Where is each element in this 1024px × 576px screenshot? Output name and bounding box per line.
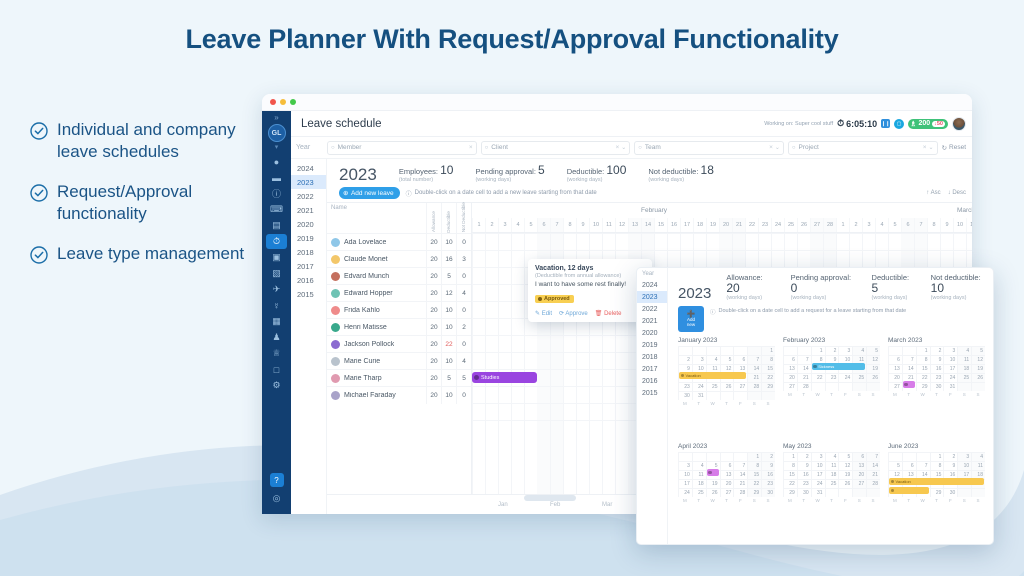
filter-project[interactable]: ○Project×⌄ bbox=[788, 141, 938, 155]
leave-type-dot-icon bbox=[891, 489, 895, 493]
table-row[interactable]: Michael Faraday20100 bbox=[327, 386, 471, 403]
calendar-day-cell[interactable]: 3 bbox=[943, 346, 957, 355]
overlay-year-item-2015[interactable]: 2015 bbox=[637, 387, 667, 399]
calendar-day-cell[interactable]: 4 bbox=[971, 452, 985, 461]
calendar-day-cell[interactable]: 25 bbox=[957, 373, 971, 382]
calendar-day-cell[interactable]: 25 bbox=[692, 488, 706, 497]
timeline-day-cell[interactable]: 6 bbox=[537, 218, 550, 232]
calendar-day-cell[interactable]: 11 bbox=[971, 461, 985, 470]
reset-button[interactable]: ↻ Reset bbox=[942, 144, 966, 152]
calendar-day-cell[interactable]: 27 bbox=[888, 382, 902, 391]
calendar-day-cell[interactable]: 22 bbox=[811, 373, 825, 382]
calendar-day-cell[interactable]: 29 bbox=[783, 488, 797, 497]
calendar-day-cell[interactable]: 27 bbox=[783, 382, 797, 391]
timeline-day-cell[interactable]: 27 bbox=[810, 218, 823, 232]
calendar-day-cell[interactable]: 27 bbox=[733, 382, 747, 391]
sort-asc-label: Asc bbox=[931, 190, 941, 196]
calendar-day-cell[interactable]: 17 bbox=[811, 470, 825, 479]
chevron-down-icon[interactable]: ⌄ bbox=[621, 144, 626, 151]
filter-member[interactable]: ○Member× bbox=[327, 141, 477, 155]
calendar-day-cell[interactable]: 31 bbox=[692, 391, 706, 400]
calendar-day-cell[interactable]: 2 bbox=[825, 346, 839, 355]
timeline-day-cell[interactable]: 23 bbox=[758, 218, 771, 232]
calendar-leave-bar[interactable] bbox=[889, 487, 929, 494]
overlay-year-item-2019[interactable]: 2019 bbox=[637, 339, 667, 351]
timeline-day-cell[interactable]: 9 bbox=[576, 218, 589, 232]
timeline-day-cell[interactable]: 1 bbox=[836, 218, 849, 232]
table-row[interactable]: Claude Monet20163 bbox=[327, 250, 471, 267]
calendar-day-cell[interactable]: 17 bbox=[678, 479, 692, 488]
screen-title: Leave schedule bbox=[301, 118, 382, 130]
team-icon[interactable]: ♟ bbox=[266, 330, 287, 345]
overlay-year-item-2021[interactable]: 2021 bbox=[637, 315, 667, 327]
calendar-day-cell[interactable]: 11 bbox=[825, 461, 839, 470]
calendar-day-cell[interactable]: 30 bbox=[761, 488, 775, 497]
calendar-day-cell[interactable]: 23 bbox=[678, 382, 692, 391]
overlay-year-item-2024[interactable]: 2024 bbox=[637, 279, 667, 291]
timeline-day-cell[interactable]: 10 bbox=[589, 218, 602, 232]
calendar-day-cell[interactable]: 21 bbox=[866, 470, 880, 479]
calendar-day-cell[interactable]: 5 bbox=[866, 346, 880, 355]
calendar-day-cell[interactable]: 19 bbox=[971, 364, 985, 373]
timeline-day-cell[interactable]: 4 bbox=[875, 218, 888, 232]
calendar-day-cell[interactable]: 7 bbox=[916, 461, 930, 470]
calendar-day-cell[interactable]: 7 bbox=[747, 355, 761, 364]
overlay-year-item-2022[interactable]: 2022 bbox=[637, 303, 667, 315]
add-new-leave-button[interactable]: ⊕ Add new leave bbox=[339, 187, 400, 199]
avatar[interactable] bbox=[952, 117, 966, 131]
calendar-day-cell[interactable]: 11 bbox=[692, 470, 706, 479]
sort-desc-button[interactable]: ↓ Desc bbox=[948, 190, 966, 196]
document-icon[interactable]: ▤ bbox=[266, 218, 287, 233]
mini-calendar-grid: .....12345678910111213141516171819202122… bbox=[678, 452, 775, 504]
calendar-day-cell[interactable]: 1 bbox=[747, 452, 761, 461]
briefcase-icon[interactable]: ▣ bbox=[266, 250, 287, 265]
calendar-day-cell[interactable]: 25 bbox=[852, 373, 866, 382]
overlay-year-item-2017[interactable]: 2017 bbox=[637, 363, 667, 375]
monitor-icon[interactable]: ▢ bbox=[894, 119, 904, 129]
calendar-day-cell[interactable]: 13 bbox=[783, 364, 797, 373]
minimize-dot[interactable] bbox=[280, 99, 286, 105]
calendar-day-cell[interactable]: 6 bbox=[852, 452, 866, 461]
mini-calendar-grid: 1234567891011121314151617181920212223242… bbox=[783, 452, 880, 504]
calendar-day-cell[interactable]: 8 bbox=[916, 355, 930, 364]
maximize-dot[interactable] bbox=[290, 99, 296, 105]
gear-icon[interactable]: ⚙ bbox=[266, 378, 287, 393]
calendar-dow-label: S bbox=[971, 391, 985, 398]
add-new-leave-label: Add new leave bbox=[351, 190, 394, 197]
calendar-day-cell[interactable]: 12 bbox=[838, 461, 852, 470]
year-item-2015[interactable]: 2015 bbox=[291, 287, 326, 301]
calendar-day-cell[interactable]: 17 bbox=[943, 364, 957, 373]
info-icon: ⓘ bbox=[406, 189, 412, 198]
app-header: Leave schedule Working on: Super cool st… bbox=[291, 111, 972, 137]
filter-client[interactable]: ○Client×⌄ bbox=[481, 141, 631, 155]
scrollbar-thumb[interactable] bbox=[524, 495, 576, 501]
cell-allowance: 20 bbox=[426, 353, 441, 370]
calendar-day-cell[interactable]: 30 bbox=[797, 488, 811, 497]
calendar-day-cell[interactable]: 23 bbox=[930, 373, 944, 382]
year-item-2021[interactable]: 2021 bbox=[291, 203, 326, 217]
add-new-button[interactable]: ➕ Add new bbox=[678, 306, 704, 332]
calendar-icon[interactable]: □ bbox=[266, 362, 287, 377]
calendar-day-cell[interactable]: 20 bbox=[852, 470, 866, 479]
calendar-empty-cell: . bbox=[733, 391, 747, 400]
trophy-icon[interactable]: ♕ bbox=[266, 346, 287, 361]
timeline-day-cell[interactable]: 21 bbox=[732, 218, 745, 232]
calendar-day-cell[interactable]: 2 bbox=[943, 452, 957, 461]
calendar-day-cell[interactable]: 5 bbox=[971, 346, 985, 355]
table-row[interactable]: Marie Tharp2055 bbox=[327, 369, 471, 386]
invoice-icon[interactable]: ▧ bbox=[266, 266, 287, 281]
year-item-2018[interactable]: 2018 bbox=[291, 245, 326, 259]
filter-placeholder: Client bbox=[491, 144, 508, 151]
calendar-day-cell[interactable]: 26 bbox=[838, 479, 852, 488]
calendar-day-cell[interactable]: 18 bbox=[825, 470, 839, 479]
person-icon[interactable]: ☿ bbox=[266, 298, 287, 313]
timeline-day-cell[interactable]: 8 bbox=[927, 218, 940, 232]
calendar-leave-bar[interactable]: Vacation bbox=[889, 478, 984, 485]
timeline-day-cell[interactable]: 2 bbox=[849, 218, 862, 232]
calendar-day-cell[interactable]: 29 bbox=[930, 488, 944, 497]
table-row[interactable]: Edvard Munch2050 bbox=[327, 267, 471, 284]
calendar-day-cell[interactable]: 18 bbox=[692, 479, 706, 488]
calendar-day-cell[interactable]: 1 bbox=[811, 346, 825, 355]
calendar-day-cell[interactable]: 15 bbox=[747, 470, 761, 479]
timeline-day-cell[interactable]: 3 bbox=[498, 218, 511, 232]
calendar-day-cell[interactable]: 20 bbox=[888, 373, 902, 382]
calendar-day-cell[interactable]: 6 bbox=[888, 355, 902, 364]
calendar-day-cell[interactable]: 19 bbox=[866, 364, 880, 373]
timeline-day-cell[interactable]: 3 bbox=[862, 218, 875, 232]
calendar-day-cell[interactable]: 9 bbox=[943, 461, 957, 470]
timeline-day-cell[interactable]: 26 bbox=[797, 218, 810, 232]
calendar-day-cell[interactable]: 3 bbox=[692, 355, 706, 364]
calendar-day-cell[interactable]: 23 bbox=[761, 479, 775, 488]
calendar-day-cell[interactable]: 2 bbox=[761, 452, 775, 461]
calendar-day-cell[interactable]: 10 bbox=[957, 461, 971, 470]
timeline-day-cell[interactable]: 17 bbox=[680, 218, 693, 232]
calendar-day-cell[interactable]: 11 bbox=[957, 355, 971, 364]
year-item-2024[interactable]: 2024 bbox=[291, 161, 326, 175]
calendar-day-cell[interactable]: 9 bbox=[930, 355, 944, 364]
timeline-day-cell[interactable]: 13 bbox=[628, 218, 641, 232]
calendar-day-cell[interactable]: 12 bbox=[971, 355, 985, 364]
calendar-day-cell[interactable]: 29 bbox=[747, 488, 761, 497]
calendar-day-cell[interactable]: 26 bbox=[706, 488, 720, 497]
calendar-day-cell[interactable]: 5 bbox=[888, 461, 902, 470]
calendar-day-cell[interactable]: 13 bbox=[720, 470, 734, 479]
id-card-icon[interactable]: ▦ bbox=[266, 314, 287, 329]
calendar-day-cell[interactable]: 14 bbox=[902, 364, 916, 373]
calendar-day-cell[interactable]: 10 bbox=[943, 355, 957, 364]
timeline-day-cell[interactable]: 15 bbox=[654, 218, 667, 232]
calendar-day-cell[interactable]: 13 bbox=[888, 364, 902, 373]
scroll-month-label: Feb bbox=[550, 502, 560, 508]
calendar-day-cell[interactable]: 4 bbox=[692, 461, 706, 470]
calendar-day-cell[interactable]: 26 bbox=[720, 382, 734, 391]
clear-icon[interactable]: × bbox=[765, 144, 773, 151]
timeline-day-cell[interactable]: 5 bbox=[888, 218, 901, 232]
calendar-day-cell[interactable]: 6 bbox=[902, 461, 916, 470]
calendar-day-cell[interactable]: 8 bbox=[761, 355, 775, 364]
calendar-day-cell[interactable]: 31 bbox=[811, 488, 825, 497]
calendar-day-cell[interactable]: 10 bbox=[811, 461, 825, 470]
timeline-day-cell[interactable]: 28 bbox=[823, 218, 836, 232]
calendar-day-cell[interactable]: 22 bbox=[916, 373, 930, 382]
chevron-down-icon[interactable]: ⌄ bbox=[775, 144, 780, 151]
calendar-day-cell[interactable]: 1 bbox=[916, 346, 930, 355]
edit-button[interactable]: ✎ Edit bbox=[535, 310, 552, 317]
calendar-day-cell[interactable]: 22 bbox=[761, 373, 775, 382]
timeline-day-cell[interactable]: 5 bbox=[524, 218, 537, 232]
help-icon[interactable]: ? bbox=[270, 473, 284, 487]
year-item-2022[interactable]: 2022 bbox=[291, 189, 326, 203]
calendar-day-cell[interactable]: 15 bbox=[916, 364, 930, 373]
calendar-day-cell[interactable]: 20 bbox=[783, 373, 797, 382]
calendar-day-cell[interactable]: 7 bbox=[902, 355, 916, 364]
calendar-day-cell[interactable]: 24 bbox=[838, 373, 852, 382]
bookmark-icon[interactable]: ▬ bbox=[266, 170, 287, 185]
timer-display[interactable]: ⏱ 6:05:10 bbox=[837, 118, 877, 129]
calendar-dow-label: F bbox=[943, 391, 957, 398]
stat-sub: (working days) bbox=[931, 295, 993, 301]
table-row[interactable]: Edward Hopper20124 bbox=[327, 284, 471, 301]
calendar-day-cell[interactable]: 22 bbox=[783, 479, 797, 488]
calendar-day-cell[interactable]: 29 bbox=[916, 382, 930, 391]
calendar-empty-cell: . bbox=[825, 382, 839, 391]
calendar-day-cell[interactable]: 2 bbox=[930, 346, 944, 355]
timeline-day-cell[interactable]: 7 bbox=[550, 218, 563, 232]
calendar-dow-label: S bbox=[957, 497, 971, 504]
timeline-day-cell[interactable]: 1 bbox=[472, 218, 485, 232]
calendar-leave-bar[interactable] bbox=[903, 381, 915, 388]
sort-asc-button[interactable]: ↑ Asc bbox=[926, 190, 940, 196]
timeline-day-cell[interactable]: 22 bbox=[745, 218, 758, 232]
clear-icon[interactable]: × bbox=[611, 144, 619, 151]
calendar-day-cell[interactable]: 3 bbox=[678, 461, 692, 470]
calendar-day-cell[interactable]: 1 bbox=[930, 452, 944, 461]
calendar-dow-label: S bbox=[761, 400, 775, 407]
calendar-day-cell[interactable]: 16 bbox=[761, 470, 775, 479]
overlay-year-item-2023[interactable]: 2023 bbox=[637, 291, 667, 303]
clear-icon[interactable]: × bbox=[465, 144, 473, 151]
calendar-day-cell[interactable]: 4 bbox=[825, 452, 839, 461]
timeline-day-cell[interactable]: 11 bbox=[966, 218, 972, 232]
timer-cup-icon[interactable]: ⏱ bbox=[266, 234, 287, 249]
calendar-day-cell[interactable]: 14 bbox=[733, 470, 747, 479]
status-badge[interactable]: ♗ 200 ↓50 bbox=[908, 119, 948, 129]
calendar-day-cell[interactable]: 18 bbox=[957, 364, 971, 373]
approve-button[interactable]: ⟳ Approve bbox=[559, 310, 588, 317]
clear-icon[interactable]: × bbox=[919, 144, 927, 151]
calendar-day-cell[interactable]: 28 bbox=[733, 488, 747, 497]
grid-line bbox=[524, 233, 525, 494]
user-circle-icon[interactable]: ● bbox=[266, 154, 287, 169]
timeline-day-cell[interactable]: 25 bbox=[784, 218, 797, 232]
timeline-day-cell[interactable]: 24 bbox=[771, 218, 784, 232]
calendar-day-cell[interactable]: 27 bbox=[852, 479, 866, 488]
calendar-day-cell[interactable]: 26 bbox=[866, 373, 880, 382]
calendar-day-cell[interactable]: 2 bbox=[678, 355, 692, 364]
calendar-day-cell[interactable]: 28 bbox=[747, 382, 761, 391]
year-item-2017[interactable]: 2017 bbox=[291, 259, 326, 273]
calendar-day-cell[interactable]: 30 bbox=[943, 488, 957, 497]
gantt-bar[interactable]: Studies bbox=[472, 372, 537, 383]
timeline-day-cell[interactable]: 11 bbox=[602, 218, 615, 232]
overlay-year-item-2020[interactable]: 2020 bbox=[637, 327, 667, 339]
calendar-day-cell[interactable]: 22 bbox=[747, 479, 761, 488]
calendar-day-cell[interactable]: 19 bbox=[706, 479, 720, 488]
status-badge: Approved bbox=[535, 295, 574, 303]
info-circle-icon[interactable]: ⓘ bbox=[266, 186, 287, 201]
calendar-day-cell[interactable]: 5 bbox=[720, 355, 734, 364]
calendar-day-cell[interactable]: 24 bbox=[678, 488, 692, 497]
popup-subtitle: (Deductible from annual allowance) bbox=[535, 273, 645, 279]
timeline-day-cell[interactable]: 10 bbox=[953, 218, 966, 232]
year-column-header: Year bbox=[637, 271, 667, 277]
overlay-year-item-2018[interactable]: 2018 bbox=[637, 351, 667, 363]
calendar-day-cell[interactable]: 5 bbox=[838, 452, 852, 461]
calendar-day-cell[interactable]: 9 bbox=[761, 461, 775, 470]
calendar-day-cell[interactable]: 23 bbox=[797, 479, 811, 488]
timeline-day-cell[interactable]: 20 bbox=[719, 218, 732, 232]
calendar-day-cell[interactable]: 10 bbox=[678, 470, 692, 479]
timeline-day-cell[interactable]: 4 bbox=[511, 218, 524, 232]
timeline-day-cell[interactable]: 9 bbox=[940, 218, 953, 232]
year-item-2020[interactable]: 2020 bbox=[291, 217, 326, 231]
avatar bbox=[331, 306, 340, 315]
calendar-day-cell[interactable]: 19 bbox=[838, 470, 852, 479]
calendar-day-cell[interactable]: 15 bbox=[761, 364, 775, 373]
table-row[interactable]: Marie Curie20104 bbox=[327, 352, 471, 369]
leave-type-dot-icon bbox=[891, 480, 895, 484]
calendar-day-cell[interactable]: 14 bbox=[797, 364, 811, 373]
table-row[interactable]: Jackson Pollock20220 bbox=[327, 335, 471, 352]
calendar-day-cell[interactable]: 3 bbox=[957, 452, 971, 461]
calendar-day-cell[interactable]: 9 bbox=[797, 461, 811, 470]
calendar-day-cell[interactable]: 30 bbox=[678, 391, 692, 400]
calendar-day-cell[interactable]: 4 bbox=[706, 355, 720, 364]
calendar-day-cell[interactable]: 28 bbox=[866, 479, 880, 488]
calendar-day-cell[interactable]: 3 bbox=[811, 452, 825, 461]
close-dot[interactable] bbox=[270, 99, 276, 105]
calendar-day-cell[interactable]: 4 bbox=[852, 346, 866, 355]
calendar-day-cell[interactable]: 12 bbox=[866, 355, 880, 364]
calendar-day-cell[interactable]: 25 bbox=[706, 382, 720, 391]
calendar-day-cell[interactable]: 30 bbox=[930, 382, 944, 391]
cell-deductible: 10 bbox=[441, 319, 456, 336]
calendar-day-cell[interactable]: 14 bbox=[747, 364, 761, 373]
chevron-down-icon[interactable]: ▾ bbox=[275, 143, 279, 151]
compass-icon[interactable]: ◎ bbox=[266, 491, 287, 506]
timeline-day-cell[interactable]: 2 bbox=[485, 218, 498, 232]
calendar-day-cell[interactable]: 6 bbox=[720, 461, 734, 470]
calendar-day-cell[interactable]: 6 bbox=[783, 355, 797, 364]
calendar-dow-label: S bbox=[971, 497, 985, 504]
timeline-day-cell[interactable]: 19 bbox=[706, 218, 719, 232]
calendar-day-cell[interactable]: 21 bbox=[733, 479, 747, 488]
chevron-double-right-icon[interactable]: » bbox=[274, 114, 278, 122]
calendar-day-cell[interactable]: 29 bbox=[761, 382, 775, 391]
calendar-leave-bar[interactable] bbox=[707, 469, 719, 476]
table-row[interactable]: Henri Matisse20102 bbox=[327, 318, 471, 335]
calendar-day-cell[interactable]: 16 bbox=[930, 364, 944, 373]
year-item-2016[interactable]: 2016 bbox=[291, 273, 326, 287]
delete-button[interactable]: 🗑 Delete bbox=[595, 310, 622, 317]
calendar-empty-cell: . bbox=[902, 452, 916, 461]
calendar-day-cell[interactable]: 15 bbox=[783, 470, 797, 479]
calendar-day-cell[interactable]: 7 bbox=[733, 461, 747, 470]
year-item-2019[interactable]: 2019 bbox=[291, 231, 326, 245]
chevron-down-icon[interactable]: ⌄ bbox=[929, 144, 934, 151]
timeline-day-cell[interactable]: 7 bbox=[914, 218, 927, 232]
calendar-day-cell[interactable]: 4 bbox=[957, 346, 971, 355]
calendar-day-cell[interactable]: 8 bbox=[747, 461, 761, 470]
calendar-day-cell[interactable]: 3 bbox=[838, 346, 852, 355]
calendar-day-cell[interactable]: 8 bbox=[783, 461, 797, 470]
calendar-day-cell[interactable]: 26 bbox=[971, 373, 985, 382]
cell-allowance: 20 bbox=[426, 387, 441, 404]
calendar-day-cell[interactable]: 8 bbox=[930, 461, 944, 470]
timeline-day-cell[interactable]: 12 bbox=[615, 218, 628, 232]
calendar-day-cell[interactable]: 21 bbox=[747, 373, 761, 382]
calendar-day-cell[interactable]: 2 bbox=[797, 452, 811, 461]
timeline-day-cell[interactable]: 18 bbox=[693, 218, 706, 232]
stat-sub: (working days) bbox=[726, 295, 775, 301]
calendar-day-cell[interactable]: 16 bbox=[797, 470, 811, 479]
calendar-dow-label: F bbox=[838, 391, 852, 398]
year-item-2023[interactable]: 2023 bbox=[291, 175, 326, 189]
calendar-day-cell[interactable]: 7 bbox=[866, 452, 880, 461]
calendar-day-cell[interactable]: 1 bbox=[761, 346, 775, 355]
calendar-leave-bar[interactable]: Sickness bbox=[812, 363, 865, 370]
calendar-empty-cell: . bbox=[747, 391, 761, 400]
calendar-day-cell[interactable]: 20 bbox=[720, 479, 734, 488]
calendar-day-cell[interactable]: 31 bbox=[943, 382, 957, 391]
calendar-day-cell[interactable]: 28 bbox=[797, 382, 811, 391]
calendar-day-cell[interactable]: 1 bbox=[783, 452, 797, 461]
calendar-dow-label: F bbox=[733, 400, 747, 407]
chat-icon[interactable]: ⌨ bbox=[266, 202, 287, 217]
calendar-day-cell[interactable]: 23 bbox=[825, 373, 839, 382]
calendar-day-cell[interactable]: 24 bbox=[811, 479, 825, 488]
calendar-day-cell[interactable]: 27 bbox=[720, 488, 734, 497]
calendar-day-cell[interactable]: 13 bbox=[852, 461, 866, 470]
filter-team[interactable]: ○Team×⌄ bbox=[634, 141, 784, 155]
overlay-year-item-2016[interactable]: 2016 bbox=[637, 375, 667, 387]
leave-type-dot-icon bbox=[708, 471, 712, 475]
timeline-day-cell[interactable]: 16 bbox=[667, 218, 680, 232]
rocket-icon[interactable]: ✈ bbox=[266, 282, 287, 297]
table-row[interactable]: Frida Kahlo20100 bbox=[327, 301, 471, 318]
calendar-leave-bar[interactable]: Vacation bbox=[679, 372, 746, 379]
avatar[interactable]: GL bbox=[268, 124, 286, 142]
calendar-day-cell[interactable]: 24 bbox=[692, 382, 706, 391]
calendar-day-cell[interactable]: 25 bbox=[825, 479, 839, 488]
cell-allowance: 20 bbox=[426, 336, 441, 353]
calendar-day-cell[interactable]: 21 bbox=[797, 373, 811, 382]
calendar-day-cell[interactable]: 24 bbox=[943, 373, 957, 382]
calendar-day-cell[interactable]: 6 bbox=[733, 355, 747, 364]
timeline-day-cell[interactable]: 14 bbox=[641, 218, 654, 232]
calendar-day-cell[interactable]: 14 bbox=[866, 461, 880, 470]
calendar-day-cell[interactable]: 7 bbox=[797, 355, 811, 364]
pause-icon[interactable]: ❙❙ bbox=[881, 119, 890, 128]
table-row[interactable]: Ada Lovelace20100 bbox=[327, 233, 471, 250]
timeline-day-cell[interactable]: 6 bbox=[901, 218, 914, 232]
timeline-day-cell[interactable]: 8 bbox=[563, 218, 576, 232]
